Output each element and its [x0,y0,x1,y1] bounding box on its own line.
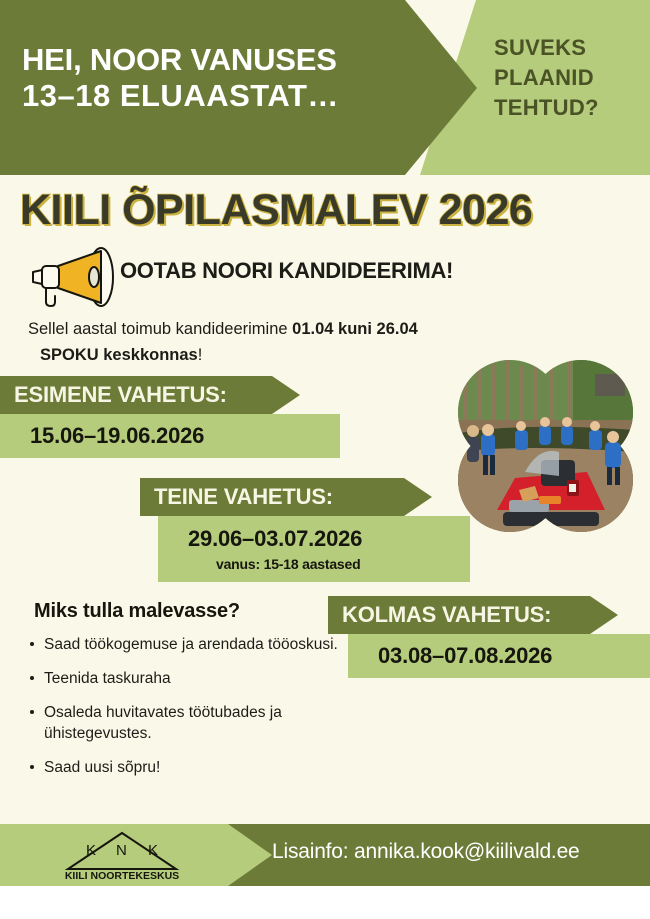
header-headline-line2: 13–18 ELUAASTAT… [22,78,422,114]
intro-pre: Sellel aastal toimub kandideerimine [28,320,292,338]
subtitle: OOTAB NOORI KANDIDEERIMA! [120,258,453,284]
shift-3-label: KOLMAS VAHETUS: [328,596,632,634]
header-banner: HEI, NOOR VANUSES 13–18 ELUAASTAT… SUVEK… [0,0,650,175]
header-question-line1: SUVEKS [494,33,644,63]
shift-2-age-note: vanus: 15-18 aastased [188,556,470,572]
poster-root: HEI, NOOR VANUSES 13–18 ELUAASTAT… SUVEK… [0,0,650,919]
shift-2-date: 29.06–03.07.2026 [188,526,470,552]
list-item: Saad töökogemuse ja arendada tööoskusi. [30,634,346,655]
shift-1-date: 15.06–19.06.2026 [30,423,340,449]
shift-3-date: 03.08–07.08.2026 [378,643,650,669]
shift-1-date-block: 15.06–19.06.2026 [0,414,340,458]
knk-letter-left: K [86,842,96,859]
header-question-line3: TEHTUD? [494,93,644,123]
header-question-line2: PLAANID [494,63,644,93]
why-join-list: Saad töökogemuse ja arendada tööoskusi. … [14,634,346,791]
header-question: SUVEKS PLAANID TEHTUD? [494,33,644,123]
camp-photo [455,360,635,532]
knk-letter-right: K [148,842,158,859]
intro-line2: SPOKU keskkonnas! [40,342,478,368]
page-title: KIILI ÕPILASMALEV 2026 [20,186,532,235]
header-headline-line1: HEI, NOOR VANUSES [22,42,422,78]
intro-platform: SPOKU keskkonnas [40,346,198,364]
knk-letter-mid: N [116,842,127,859]
list-item: Teenida taskuraha [30,668,346,689]
intro-post: ! [198,346,203,364]
shift-2-label: TEINE VAHETUS: [140,478,446,516]
list-item: Osaleda huvitavates töötubades ja ühiste… [30,702,346,744]
intro-text: Sellel aastal toimub kandideerimine 01.0… [28,316,478,368]
bottom-bar: Loe lähemalt www.kiilikalender.ee KIILI … [0,886,650,919]
intro-dates: 01.04 kuni 26.04 [292,320,418,338]
knk-caption: KIILI NOORTEKESKUS [65,870,179,881]
header-headline: HEI, NOOR VANUSES 13–18 ELUAASTAT… [22,42,422,114]
megaphone-icon [24,246,124,308]
shift-1-label: ESIMENE VAHETUS: [0,376,314,414]
shift-2-date-block: 29.06–03.07.2026 vanus: 15-18 aastased [158,516,470,582]
contact-info[interactable]: Lisainfo: annika.kook@kiilivald.ee [272,840,580,864]
shift-3-date-block: 03.08–07.08.2026 [348,634,650,678]
list-item: Saad uusi sõpru! [30,757,346,778]
why-join-heading: Miks tulla malevasse? [34,600,240,623]
kiili-noortekeskus-logo: K N K KIILI NOORTEKESKUS [58,829,186,881]
